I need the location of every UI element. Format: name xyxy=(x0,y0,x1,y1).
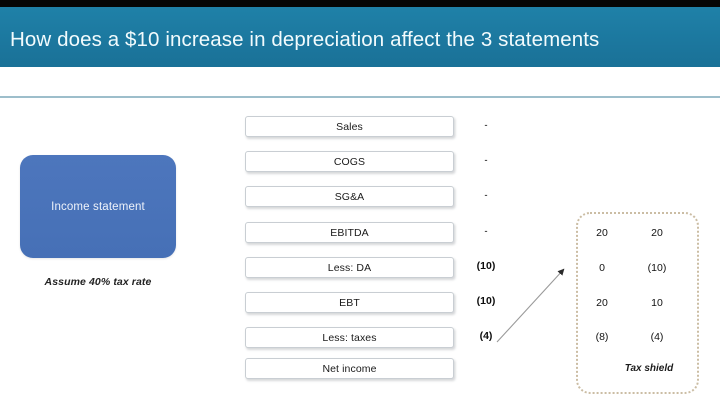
statement-row-label: SG&A xyxy=(335,191,365,203)
tax-shield-cell: 20 xyxy=(579,297,625,309)
statement-row-value: - xyxy=(460,222,512,241)
statement-row-value: - xyxy=(460,151,512,170)
tax-shield-cell: 10 xyxy=(634,297,680,309)
page-title: How does a $10 increase in depreciation … xyxy=(10,28,599,52)
statement-row-label: Less: taxes xyxy=(322,332,376,344)
tax-shield-cell: (10) xyxy=(634,262,680,274)
statement-row-label: EBT xyxy=(339,297,360,309)
tax-shield-cell: (8) xyxy=(579,331,625,343)
statement-row-box[interactable]: EBT xyxy=(245,292,454,313)
slide-canvas: How does a $10 increase in depreciation … xyxy=(0,0,720,404)
top-black-strip xyxy=(0,0,720,7)
statement-row-value: - xyxy=(460,186,512,205)
statement-row-label: COGS xyxy=(334,156,365,168)
tax-shield-cell: (4) xyxy=(634,331,680,343)
income-statement-block-label: Income statement xyxy=(51,201,145,213)
statement-row-box[interactable]: Less: DA xyxy=(245,257,454,278)
header-divider-rule xyxy=(0,96,720,98)
statement-row-label: Less: DA xyxy=(328,262,371,274)
tax-shield-caption: Tax shield xyxy=(612,363,686,374)
statement-row-box[interactable]: EBITDA xyxy=(245,222,454,243)
tax-rate-assumption-note: Assume 40% tax rate xyxy=(20,276,176,288)
statement-row-label: Sales xyxy=(336,121,363,133)
income-statement-block: Income statement xyxy=(20,155,176,258)
tax-shield-cell: 20 xyxy=(634,227,680,239)
title-band: How does a $10 increase in depreciation … xyxy=(0,7,720,67)
connector-arrow xyxy=(490,258,576,350)
statement-row-box[interactable]: Less: taxes xyxy=(245,327,454,348)
tax-shield-cell: 20 xyxy=(579,227,625,239)
statement-row-box[interactable]: COGS xyxy=(245,151,454,172)
statement-row-box[interactable]: Sales xyxy=(245,116,454,137)
statement-row-label: Net income xyxy=(322,363,376,375)
tax-shield-cell: 0 xyxy=(579,262,625,274)
statement-row-label: EBITDA xyxy=(330,227,369,239)
statement-row-box[interactable]: Net income xyxy=(245,358,454,379)
statement-row-value: - xyxy=(460,116,512,135)
statement-row-box[interactable]: SG&A xyxy=(245,186,454,207)
